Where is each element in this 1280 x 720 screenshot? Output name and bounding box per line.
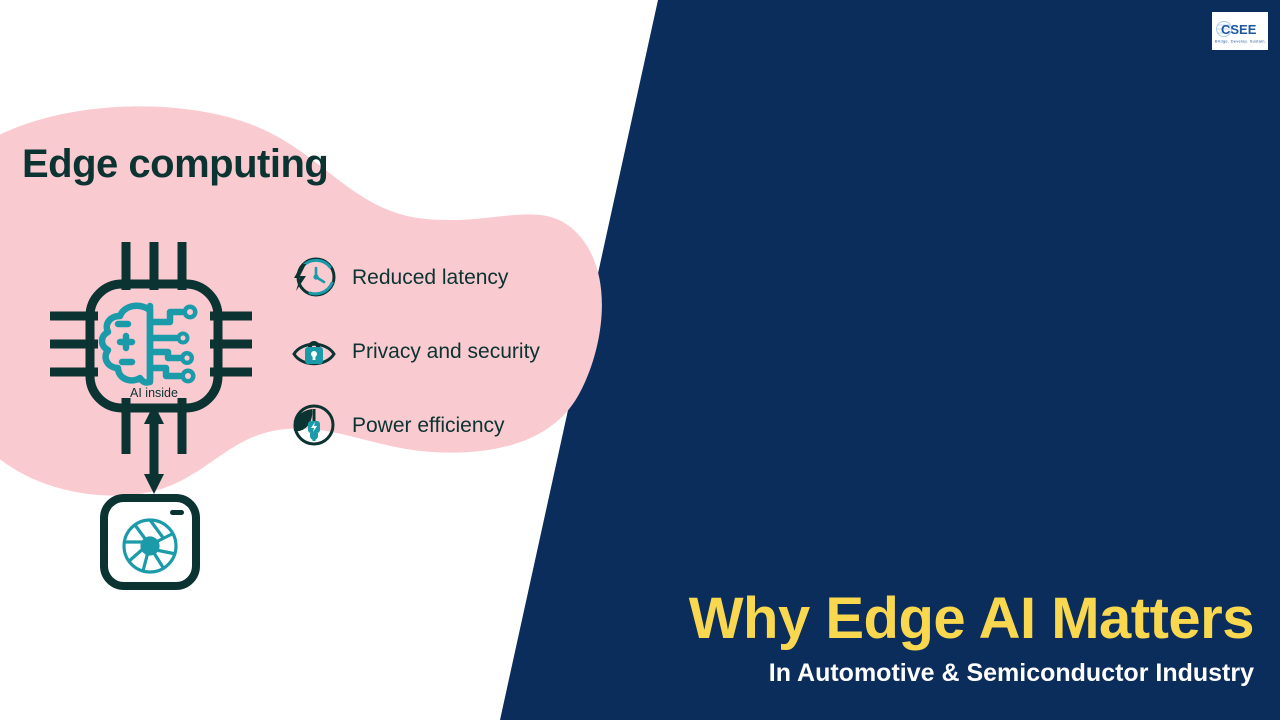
slide-root: Edge computing	[0, 0, 1280, 720]
ai-chip-icon: AI inside	[40, 232, 262, 502]
clock-lightning-icon	[290, 253, 338, 301]
csee-logo-mark: CSEE	[1216, 20, 1264, 38]
headline-title: Why Edge AI Matters	[689, 589, 1254, 648]
csee-logo: CSEE Bridge. Develop. Sustain.	[1212, 12, 1268, 50]
leaf-plug-icon	[290, 401, 338, 449]
csee-logo-tagline: Bridge. Develop. Sustain.	[1214, 38, 1265, 43]
csee-logo-text: CSEE	[1221, 22, 1257, 37]
page-title: Edge computing	[22, 142, 328, 187]
camera-aperture-icon	[98, 492, 202, 592]
benefit-label: Reduced latency	[352, 267, 508, 288]
benefit-label: Privacy and security	[352, 341, 540, 362]
benefits-list: Reduced latency Privacy and security	[290, 252, 540, 450]
eye-lock-icon	[290, 327, 338, 375]
benefit-item-power-efficiency: Power efficiency	[290, 400, 540, 450]
benefit-item-privacy-and-security: Privacy and security	[290, 326, 540, 376]
headline-block: Why Edge AI Matters In Automotive & Semi…	[689, 589, 1254, 686]
chip-label: AI inside	[130, 386, 178, 400]
benefit-label: Power efficiency	[352, 415, 505, 436]
bidirectional-arrow-icon	[144, 404, 164, 494]
headline-subtitle: In Automotive & Semiconductor Industry	[689, 660, 1254, 686]
benefit-item-reduced-latency: Reduced latency	[290, 252, 540, 302]
